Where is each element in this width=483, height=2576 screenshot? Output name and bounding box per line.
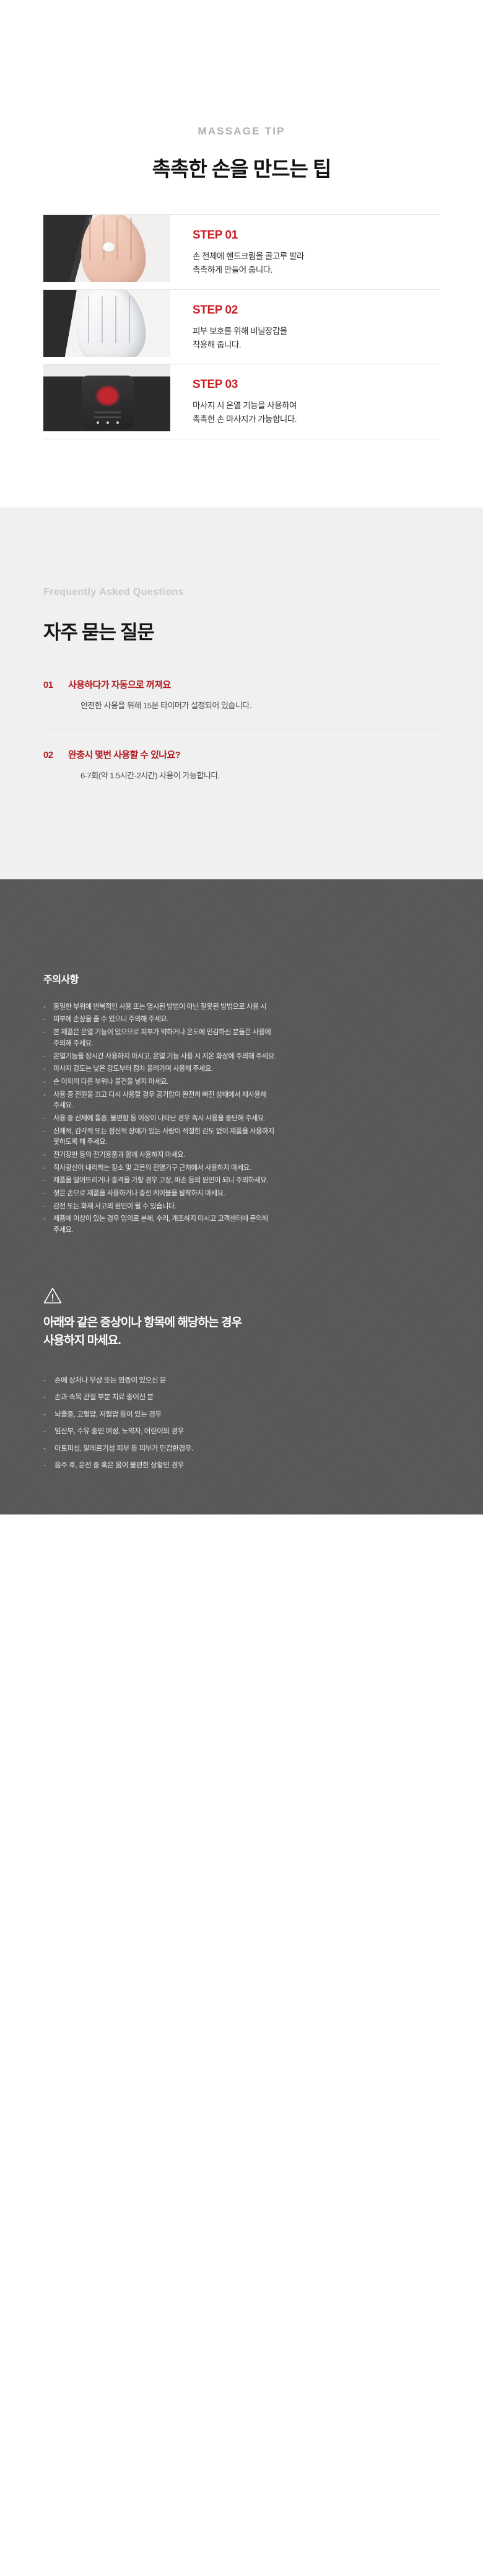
warning-text: 아토피성, 알레르기성 피부 등 피부가 민감한경우.	[54, 1443, 193, 1455]
caution-text: 사용 중 신체에 통증, 불편함 등 이상이 나타난 경우 즉시 사용을 중단해…	[53, 1114, 440, 1125]
warning-text: 임산부, 수유 중인 여성, 노약자, 어린이의 경우	[54, 1426, 184, 1438]
bullet-dash: -	[43, 1443, 54, 1455]
caution-text: 마사지 강도는 낮은 강도부터 점차 올려가며 사용해 주세요.	[53, 1064, 440, 1075]
step-01-body: STEP 01 손 전체에 핸드크림을 골고루 발라 촉촉하게 만들어 줍니다.	[170, 215, 440, 289]
caution-item: -제품에 이상이 있는 경우 임의로 분해, 수리, 개조하지 마시고 고객센터…	[43, 1214, 440, 1236]
bullet-dash: -	[43, 1189, 53, 1200]
massage-tip-section: MASSAGE TIP 촉촉한 손을 만드는 팁 STEP 01 손 전체에 핸…	[0, 0, 483, 508]
faq-title: 자주 묻는 질문	[43, 617, 440, 644]
faq-answer-text: 6-7회(약 1.5시간-2시간) 사용이 가능합니다.	[43, 770, 440, 783]
faq-question-text: 완충시 몇번 사용할 수 있나요?	[68, 748, 180, 761]
step-01-image	[43, 215, 170, 282]
bullet-dash: -	[43, 1163, 53, 1174]
faq-eyebrow: Frequently Asked Questions	[43, 508, 440, 598]
caution-item: -동일한 부위에 반복적인 사용 또는 명시된 방법이 아닌 잘못된 방법으로 …	[43, 1002, 440, 1013]
caution-item: -사용 중 신체에 통증, 불편함 등 이상이 나타난 경우 즉시 사용을 중단…	[43, 1114, 440, 1125]
warning-text: 음주 후, 운전 중 혹은 몸이 불편한 상황인 경우	[54, 1460, 184, 1472]
warning-block: 아래와 같은 증상이나 항목에 해당하는 경우 사용하지 마세요. -손에 상처…	[43, 1287, 440, 1472]
step-02-description: 피부 보호를 위해 비닐장갑을 착용해 줍니다.	[193, 325, 440, 352]
warning-item: -손과 속목 관절 부분 치료 중이신 분	[43, 1392, 440, 1404]
bullet-dash: -	[43, 1176, 53, 1187]
caution-item: -피부에 손상을 줄 수 있으니 주의해 주세요.	[43, 1014, 440, 1026]
caution-item: -전기장판 등의 전기용품과 함께 사용하지 마세요.	[43, 1150, 440, 1161]
caution-item: -제품을 떨어뜨리거나 충격을 가할 경우 고장, 파손 등의 원인이 되니 주…	[43, 1176, 440, 1187]
cautions-title: 주의사항	[43, 879, 440, 986]
massage-tip-eyebrow: MASSAGE TIP	[0, 0, 483, 138]
caution-text: 제품에 이상이 있는 경우 임의로 분해, 수리, 개조하지 마시고 고객센터에…	[53, 1214, 440, 1236]
warning-item: -아토피성, 알레르기성 피부 등 피부가 민감한경우.	[43, 1443, 440, 1455]
caution-text: 피부에 손상을 줄 수 있으니 주의해 주세요.	[53, 1014, 440, 1026]
bullet-dash: -	[43, 1090, 53, 1112]
bullet-dash: -	[43, 1052, 53, 1063]
bullet-dash: -	[43, 1375, 54, 1387]
caution-text: 젖은 손으로 제품을 사용하거나 충전 케이블을 탈착하지 마세요.	[53, 1189, 440, 1200]
bullet-dash: -	[43, 1002, 53, 1013]
caution-item: -젖은 손으로 제품을 사용하거나 충전 케이블을 탈착하지 마세요.	[43, 1189, 440, 1200]
caution-text: 신체적, 감각적 또는 정신적 장애가 있는 사람이 적절한 감도 없이 제품을…	[53, 1127, 440, 1148]
warning-item: -임산부, 수유 중인 여성, 노약자, 어린이의 경우	[43, 1426, 440, 1438]
bullet-dash: -	[43, 1392, 54, 1404]
faq-list: 01 사용하다가 자동으로 꺼져요 안전한 사용을 위해 15분 타이머가 설정…	[43, 678, 440, 799]
caution-item: -온열기능을 장시간 사용하지 마시고, 온열 기능 사용 시 저온 화상에 주…	[43, 1052, 440, 1063]
faq-number: 02	[43, 750, 68, 760]
caution-text: 온열기능을 장시간 사용하지 마시고, 온열 기능 사용 시 저온 화상에 주의…	[53, 1052, 440, 1063]
step-02-label: STEP 02	[193, 304, 440, 317]
faq-question-row: 01 사용하다가 자동으로 꺼져요	[43, 678, 440, 691]
faq-answer-text: 안전한 사용을 위해 15분 타이머가 설정되어 있습니다.	[43, 700, 440, 713]
step-row: STEP 03 마사지 시 온열 기능을 사용하여 촉촉한 손 마사지가 가능합…	[43, 364, 440, 439]
warning-item: -손에 상처나 부상 또는 염증이 있으신 분	[43, 1375, 440, 1387]
cautions-list: -동일한 부위에 반복적인 사용 또는 명시된 방법이 아닌 잘못된 방법으로 …	[43, 1002, 440, 1236]
bullet-dash: -	[43, 1014, 53, 1026]
bullet-dash: -	[43, 1027, 53, 1049]
caution-item: -사용 중 전원을 끄고 다시 사용할 경우 공기압이 완전히 빠진 상태에서 …	[43, 1090, 440, 1112]
caution-text: 직사광선이 내리쬐는 장소 및 고온의 전열기구 근처에서 사용하지 마세요.	[53, 1163, 440, 1174]
warning-triangle-icon	[43, 1287, 62, 1304]
step-03-label: STEP 03	[193, 378, 440, 392]
caution-text: 동일한 부위에 반복적인 사용 또는 명시된 방법이 아닌 잘못된 방법으로 사…	[53, 1002, 440, 1013]
step-row: STEP 01 손 전체에 핸드크림을 골고루 발라 촉촉하게 만들어 줍니다.	[43, 214, 440, 289]
step-list: STEP 01 손 전체에 핸드크림을 골고루 발라 촉촉하게 만들어 줍니다.…	[43, 214, 440, 439]
caution-item: -본 제품은 온열 기능이 있으므로 피부가 약하거나 온도에 민감하신 분들은…	[43, 1027, 440, 1049]
warning-item: -음주 후, 운전 중 혹은 몸이 불편한 상황인 경우	[43, 1460, 440, 1472]
caution-item: -직사광선이 내리쬐는 장소 및 고온의 전열기구 근처에서 사용하지 마세요.	[43, 1163, 440, 1174]
caution-text: 제품을 떨어뜨리거나 충격을 가할 경우 고장, 파손 등의 원인이 되니 주의…	[53, 1176, 440, 1187]
step-03-image	[43, 364, 170, 431]
warning-text: 뇌졸중, 고혈압, 저혈압 등이 있는 경우	[54, 1409, 162, 1421]
step-02-image	[43, 290, 170, 357]
step-02-body: STEP 02 피부 보호를 위해 비닐장갑을 착용해 줍니다.	[170, 290, 440, 364]
bullet-dash: -	[43, 1077, 53, 1088]
faq-question-row: 02 완충시 몇번 사용할 수 있나요?	[43, 748, 440, 761]
caution-item: -신체적, 감각적 또는 정신적 장애가 있는 사람이 적절한 감도 없이 제품…	[43, 1127, 440, 1148]
bullet-dash: -	[43, 1127, 53, 1148]
caution-text: 감전 또는 화재 사고의 원인이 될 수 있습니다.	[53, 1202, 440, 1213]
product-detail-page: MASSAGE TIP 촉촉한 손을 만드는 팁 STEP 01 손 전체에 핸…	[0, 0, 483, 1514]
warning-item: -뇌졸중, 고혈압, 저혈압 등이 있는 경우	[43, 1409, 440, 1421]
caution-text: 손 이외의 다른 부위나 물건을 넣지 마세요.	[53, 1077, 440, 1088]
caution-item: -손 이외의 다른 부위나 물건을 넣지 마세요.	[43, 1077, 440, 1088]
bullet-dash: -	[43, 1202, 53, 1213]
bullet-dash: -	[43, 1150, 53, 1161]
caution-item: -마사지 강도는 낮은 강도부터 점차 올려가며 사용해 주세요.	[43, 1064, 440, 1075]
faq-number: 01	[43, 680, 68, 690]
faq-item[interactable]: 02 완충시 몇번 사용할 수 있나요? 6-7회(약 1.5시간-2시간) 사…	[43, 729, 440, 799]
step-row: STEP 02 피부 보호를 위해 비닐장갑을 착용해 줍니다.	[43, 289, 440, 364]
warning-heading: 아래와 같은 증상이나 항목에 해당하는 경우 사용하지 마세요.	[43, 1314, 440, 1350]
caution-item: -감전 또는 화재 사고의 원인이 될 수 있습니다.	[43, 1202, 440, 1213]
bullet-dash: -	[43, 1214, 53, 1236]
caution-text: 전기장판 등의 전기용품과 함께 사용하지 마세요.	[53, 1150, 440, 1161]
faq-question-text: 사용하다가 자동으로 꺼져요	[68, 678, 171, 691]
step-03-description: 마사지 시 온열 기능을 사용하여 촉촉한 손 마사지가 가능합니다.	[193, 399, 440, 426]
bullet-dash: -	[43, 1460, 54, 1472]
step-01-description: 손 전체에 핸드크림을 골고루 발라 촉촉하게 만들어 줍니다.	[193, 250, 440, 277]
caution-text: 사용 중 전원을 끄고 다시 사용할 경우 공기압이 완전히 빠진 상태에서 재…	[53, 1090, 440, 1112]
bullet-dash: -	[43, 1064, 53, 1075]
cautions-section: 주의사항 -동일한 부위에 반복적인 사용 또는 명시된 방법이 아닌 잘못된 …	[0, 879, 483, 1514]
caution-text: 본 제품은 온열 기능이 있으므로 피부가 약하거나 온도에 민감하신 분들은 …	[53, 1027, 440, 1049]
warning-text: 손과 속목 관절 부분 치료 중이신 분	[54, 1392, 154, 1404]
bullet-dash: -	[43, 1409, 54, 1421]
step-03-body: STEP 03 마사지 시 온열 기능을 사용하여 촉촉한 손 마사지가 가능합…	[170, 364, 440, 439]
faq-item[interactable]: 01 사용하다가 자동으로 꺼져요 안전한 사용을 위해 15분 타이머가 설정…	[43, 678, 440, 729]
bullet-dash: -	[43, 1426, 54, 1438]
faq-section: Frequently Asked Questions 자주 묻는 질문 01 사…	[0, 508, 483, 879]
step-01-label: STEP 01	[193, 229, 440, 242]
warning-list: -손에 상처나 부상 또는 염증이 있으신 분 -손과 속목 관절 부분 치료 …	[43, 1375, 440, 1472]
warning-text: 손에 상처나 부상 또는 염증이 있으신 분	[54, 1375, 166, 1387]
massage-tip-title: 촉촉한 손을 만드는 팁	[0, 152, 483, 182]
bullet-dash: -	[43, 1114, 53, 1125]
